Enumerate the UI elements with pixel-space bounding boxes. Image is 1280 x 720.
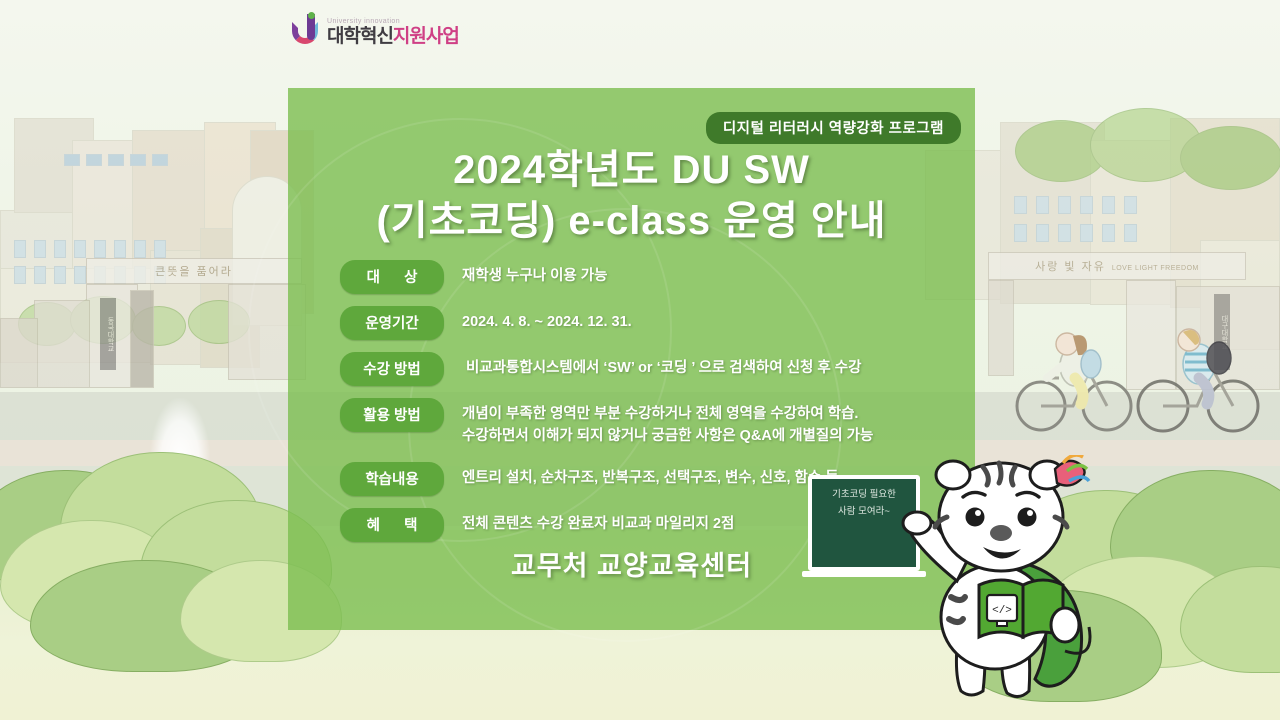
title-line-2: (기초코딩) e-class 운영 안내 [288,196,975,247]
info-row-target: 대 상 재학생 누구나 이용 가능 [340,260,950,294]
info-value-enrollment: 비교과통합시스템에서 ‘SW’ or ‘코딩 ’ 으로 검색하여 신청 후 수강 [466,352,950,379]
info-label-usage: 활용 방법 [340,398,444,432]
info-value-target: 재학생 누구나 이용 가능 [462,260,950,287]
info-row-period: 운영기간 2024. 4. 8. ~ 2024. 12. 31. [340,306,950,340]
university-innovation-logo: University innovation 대학혁신지원사업 [292,14,459,46]
info-label-target: 대 상 [340,260,444,294]
logo-text-block: University innovation 대학혁신지원사업 [327,18,459,46]
svg-text:</>: </> [992,605,1012,617]
mascot-area: 기초코딩 필요한 사람 모여라~ [800,455,1100,705]
logo-korean-text: 대학혁신지원사업 [327,27,459,46]
gate-right-inscription: 사랑 빛 자유LOVE LIGHT FREEDOM [1035,258,1199,274]
uj-logo-mark-icon [292,14,322,46]
cyclist-left-figure [1015,322,1135,442]
page-title: 2024학년도 DU SW (기초코딩) e-class 운영 안내 [288,145,975,247]
info-value-period: 2024. 4. 8. ~ 2024. 12. 31. [462,306,950,333]
info-label-benefit: 혜 택 [340,508,444,542]
cyclist-right-figure [1135,320,1265,445]
info-label-enrollment: 수강 방법 [340,352,444,386]
info-label-period: 운영기간 [340,306,444,340]
title-line-1: 2024학년도 DU SW [288,145,975,196]
info-label-curriculum: 학습내용 [340,462,444,496]
white-tiger-mascot-icon: </> [895,455,1110,710]
gate-left-plaque: 동국대학교 [100,298,116,370]
info-value-usage: 개념이 부족한 영역만 부분 수강하거나 전체 영역을 수강하여 학습. 수강하… [462,398,950,448]
gate-left-inscription: 큰뜻을 품어라 [155,263,233,279]
info-row-usage: 활용 방법 개념이 부족한 영역만 부분 수강하거나 전체 영역을 수강하여 학… [340,398,950,448]
poster-canvas: 큰뜻을 품어라 동국대학교 사랑 빛 자유LOVE LIGHT FREEDOM … [0,0,1280,720]
logo-english-text: University innovation [327,18,459,25]
info-row-enrollment: 수강 방법 비교과통합시스템에서 ‘SW’ or ‘코딩 ’ 으로 검색하여 신… [340,352,950,386]
program-badge: 디지털 리터러시 역량강화 프로그램 [706,112,961,144]
